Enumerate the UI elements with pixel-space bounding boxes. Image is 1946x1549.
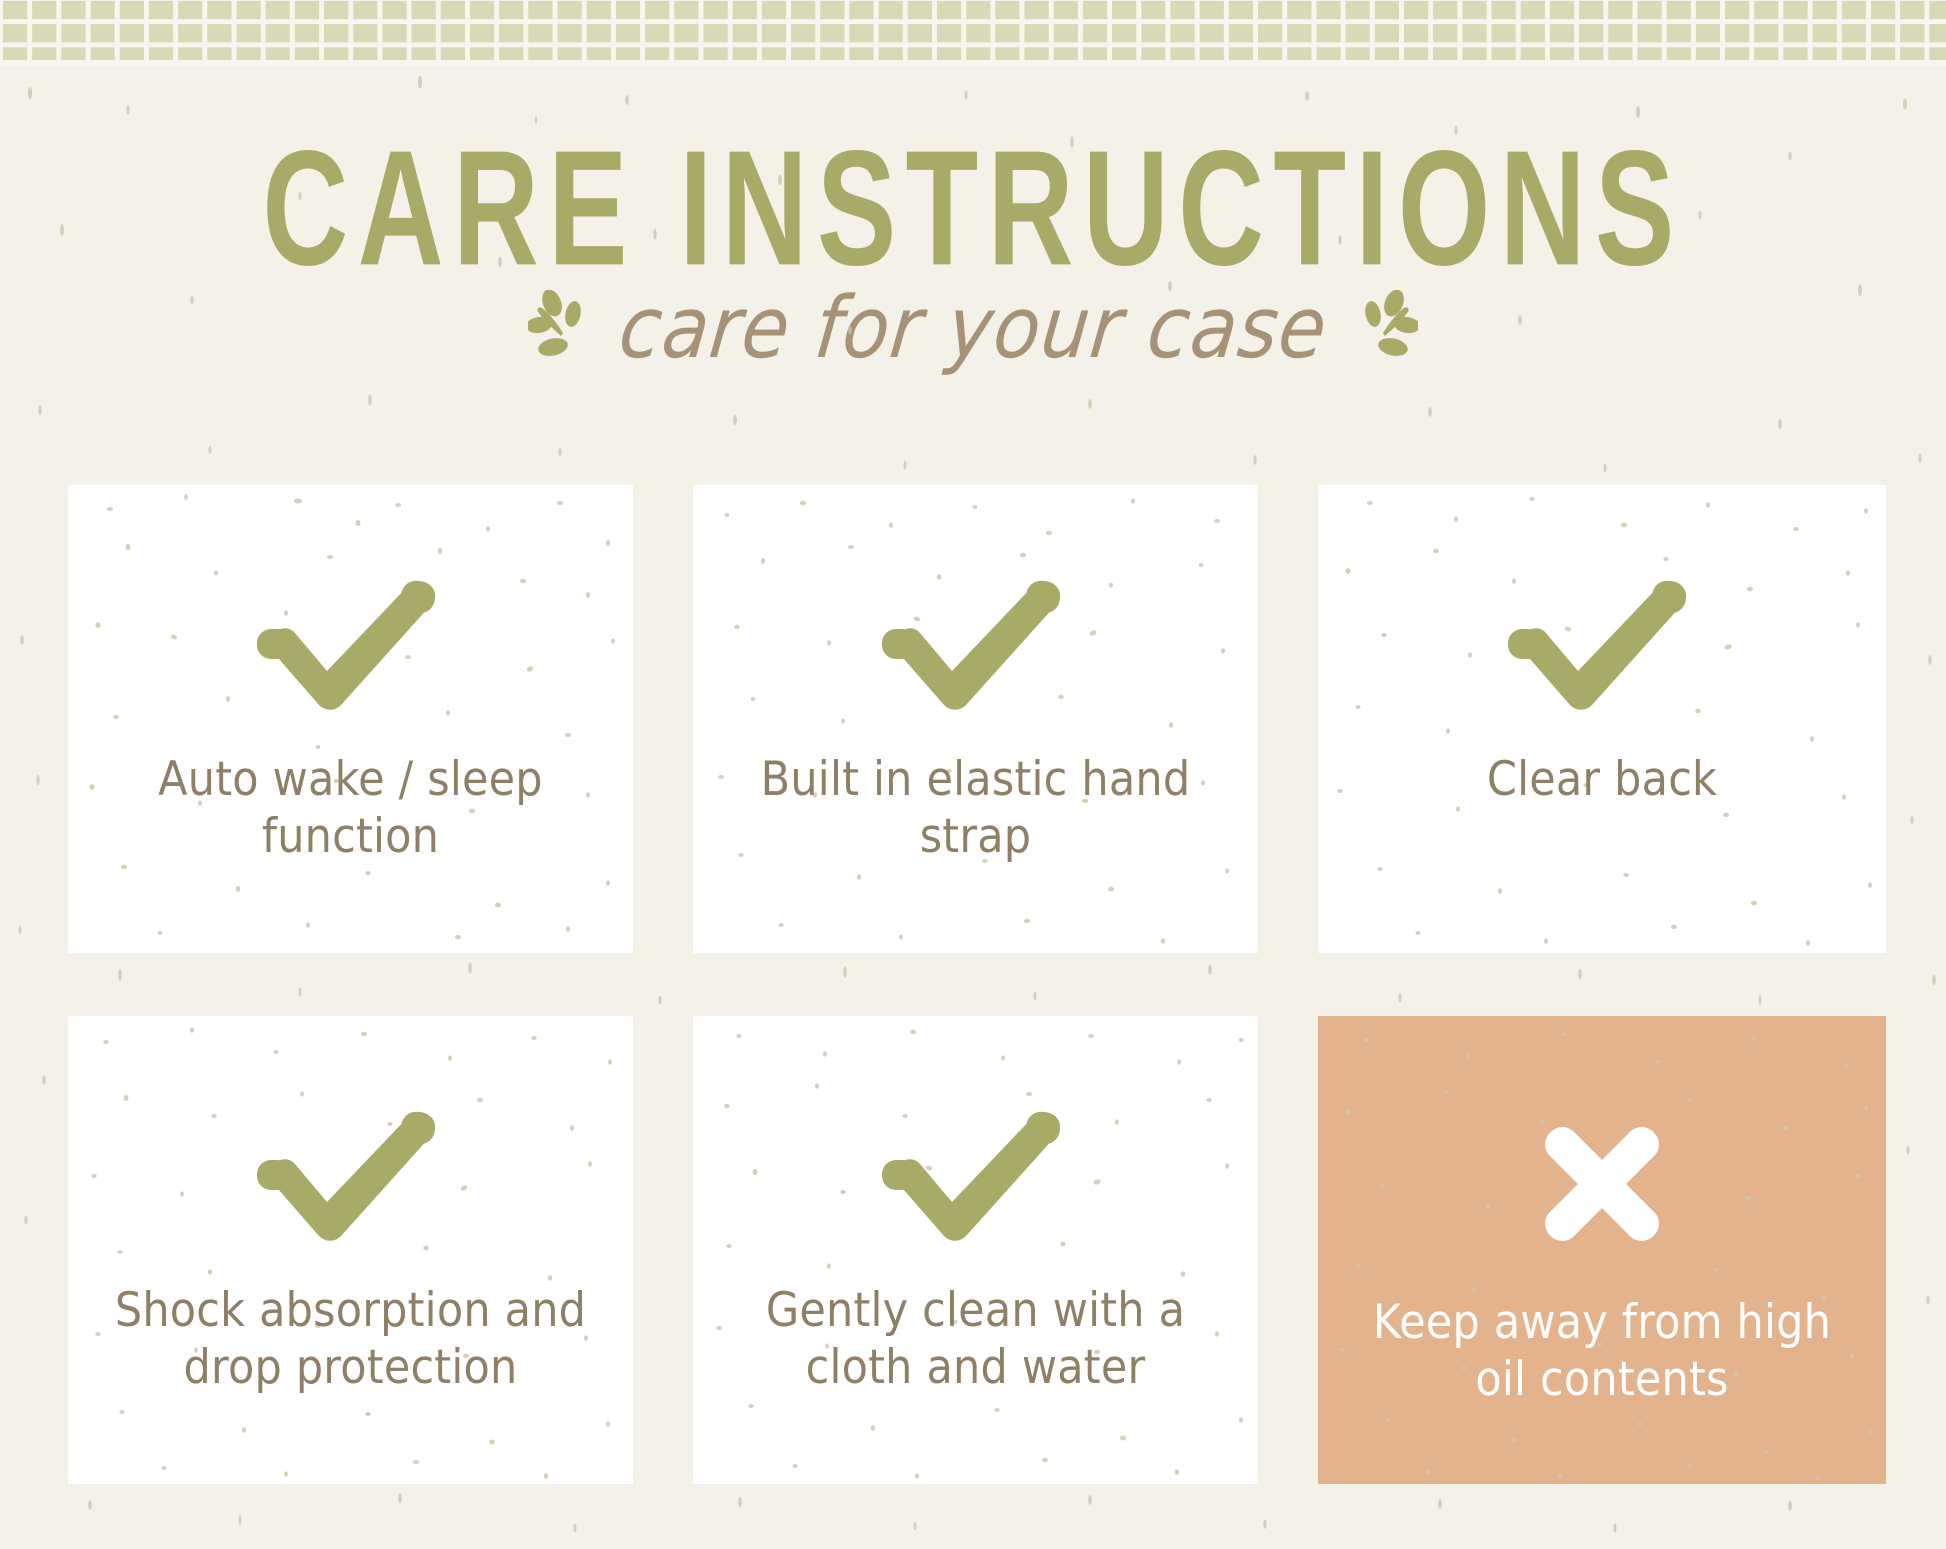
care-card-clear-back[interactable]: Clear back <box>1318 485 1886 953</box>
care-card-gentle-clean[interactable]: Gently clean with a cloth and water <box>693 1016 1258 1484</box>
care-card-auto-wake-sleep[interactable]: Auto wake / sleep function <box>68 485 633 953</box>
cross-icon <box>1527 1114 1677 1254</box>
leaf-sprig-icon-left <box>528 290 594 367</box>
card-label: Shock absorption and drop protection <box>68 1282 633 1397</box>
check-icon <box>876 577 1076 717</box>
card-label: Auto wake / sleep function <box>68 751 633 866</box>
care-card-elastic-hand-strap[interactable]: Built in elastic hand strap <box>693 485 1258 953</box>
care-instruction-card-grid: Auto wake / sleep function <box>68 485 1886 1484</box>
card-label: Clear back <box>1455 751 1749 809</box>
checkered-grid-band <box>0 0 1946 60</box>
card-label: Built in elastic hand strap <box>693 751 1258 866</box>
card-label: Gently clean with a cloth and water <box>693 1282 1258 1397</box>
check-icon <box>1502 577 1702 717</box>
check-icon <box>251 577 451 717</box>
check-icon <box>251 1108 451 1248</box>
check-icon <box>876 1108 1076 1248</box>
poster-canvas: CARE INSTRUCTIONS care for your case <box>0 0 1946 1549</box>
poster-header: CARE INSTRUCTIONS <box>0 66 1946 242</box>
care-card-shock-absorption[interactable]: Shock absorption and drop protection <box>68 1016 633 1484</box>
care-card-no-high-oil[interactable]: Keep away from high oil contents <box>1318 1016 1886 1484</box>
card-label: Keep away from high oil contents <box>1318 1294 1886 1409</box>
page-title: CARE INSTRUCTIONS <box>68 66 1878 291</box>
leaf-sprig-icon-right <box>1352 290 1418 367</box>
